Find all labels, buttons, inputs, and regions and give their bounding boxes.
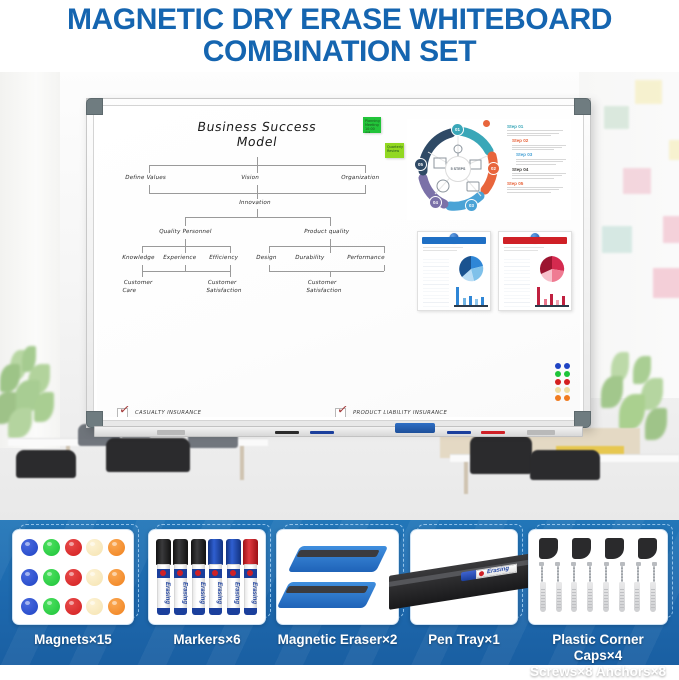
- marker-row: Erasing Erasing Erasing: [156, 539, 258, 615]
- magnet: [108, 569, 125, 586]
- step-label: Step 01: [507, 124, 569, 129]
- donut-hub-label: 5 STEPS: [445, 156, 471, 182]
- magnet: [86, 539, 103, 556]
- accessory-label: Magnets×15: [12, 632, 134, 648]
- accessory-label: Magnetic Eraser×2: [276, 632, 399, 648]
- magnet: [86, 569, 103, 586]
- magnet: [43, 569, 60, 586]
- magnet: [86, 598, 103, 615]
- whiteboard-surface[interactable]: Business Success Model Define Values Vis…: [97, 109, 580, 417]
- checkbox: ✓: [335, 408, 346, 418]
- corner-cap-icon: [86, 98, 103, 115]
- accessory-image-box: Erasing Erasing Erasing: [148, 529, 266, 625]
- product-title-block: MAGNETIC DRY ERASE WHITEBOARD COMBINATIO…: [0, 0, 679, 72]
- sheet-footer-bar: [535, 305, 569, 307]
- whiteboard[interactable]: Business Success Model Define Values Vis…: [86, 98, 591, 428]
- mindmap-node: Knowledge: [121, 255, 155, 261]
- check-icon: ✓: [118, 403, 133, 417]
- report-sheet-red[interactable]: [498, 231, 572, 311]
- board-magnet[interactable]: [555, 363, 561, 369]
- marker-brand: Erasing: [192, 581, 205, 605]
- accessory-erasers[interactable]: Magnetic Eraser×2: [276, 529, 399, 648]
- marker: Erasing: [191, 539, 206, 615]
- marker: Erasing: [173, 539, 188, 615]
- accessory-magnets[interactable]: Magnets×15: [12, 529, 134, 648]
- chair: [106, 438, 190, 472]
- board-magnet[interactable]: [564, 395, 570, 401]
- board-magnet[interactable]: [555, 371, 561, 377]
- mindmap-node: Vision: [240, 175, 259, 181]
- board-magnet[interactable]: [555, 395, 561, 401]
- magnetic-eraser: [283, 582, 371, 608]
- decorative-dot-icon: [483, 120, 490, 127]
- accessory-label: Pen Tray×1: [410, 632, 518, 648]
- sheet-header-band: [422, 237, 486, 244]
- magnet: [65, 598, 82, 615]
- sheet-grid: [423, 256, 449, 308]
- donut-chart: 5 STEPS 01 02 03 04 05: [413, 124, 503, 214]
- wall-anchor: [634, 582, 640, 612]
- mindmap-node: Durability: [294, 255, 324, 261]
- tray-eraser[interactable]: [395, 423, 435, 433]
- checklist-item[interactable]: ✓ PRODUCT LIABILITY INSURANCE: [335, 403, 535, 417]
- wall-anchor: [571, 582, 577, 612]
- sheet-grid: [504, 256, 530, 308]
- board-magnet-cluster[interactable]: [555, 363, 573, 405]
- wall-sticky-note: [669, 140, 679, 160]
- title-line-2: COMBINATION SET: [203, 36, 476, 68]
- corner-cap-icon: [574, 98, 591, 115]
- mindmap-node: Innovation: [238, 200, 271, 206]
- plastic-corner-cap: [638, 538, 657, 559]
- mindmap-node: Performance: [346, 255, 385, 261]
- board-magnet[interactable]: [564, 387, 570, 393]
- step-badge-04: 04: [429, 196, 442, 209]
- check-icon: ✓: [336, 403, 351, 417]
- magnet: [21, 569, 38, 586]
- wall-anchor: [556, 582, 562, 612]
- marker: Erasing: [243, 539, 258, 615]
- marker-brand: Erasing: [174, 581, 187, 605]
- accessory-image-box: [12, 529, 134, 625]
- accessory-markers[interactable]: Erasing Erasing Erasing: [148, 529, 266, 648]
- board-magnet[interactable]: [555, 379, 561, 385]
- magnet: [108, 598, 125, 615]
- sheet-bar-chart: [535, 287, 569, 307]
- accessory-image-box: Erasing: [410, 529, 518, 625]
- checklist-column-left: ✓ CASUALTY INSURANCE ✓ HEALTH INSURANCE …: [117, 403, 327, 417]
- report-sheet-blue[interactable]: [417, 231, 491, 311]
- desk-leg: [464, 462, 468, 494]
- magnetic-eraser: [294, 546, 382, 572]
- wall-anchor: [619, 582, 625, 612]
- plastic-corner-cap: [572, 538, 591, 559]
- checklist-label: CASUALTY INSURANCE: [135, 410, 201, 416]
- step-badge-01: 01: [451, 123, 464, 136]
- accessory-pen-tray[interactable]: Erasing Pen Tray×1: [410, 529, 518, 648]
- mindmap-node: Customer Satisfaction: [306, 279, 355, 295]
- mindmap-node: Quality Personnel: [158, 229, 212, 235]
- magnet: [43, 539, 60, 556]
- board-magnet[interactable]: [564, 371, 570, 377]
- chair: [470, 436, 532, 474]
- mindmap-node: Experience: [162, 255, 196, 261]
- office-scene: Business Success Model Define Values Vis…: [0, 68, 679, 520]
- board-magnet[interactable]: [555, 387, 561, 393]
- step-label: Step 03: [516, 152, 569, 157]
- wall-sticky-note: [663, 216, 679, 243]
- accessory-image-box: [528, 529, 668, 625]
- corner-cap-row: [539, 538, 657, 559]
- accessory-label-line-2: Screws×8 Anchors×8: [528, 664, 668, 680]
- marker: Erasing: [156, 539, 171, 615]
- magnet-grid: [21, 539, 125, 615]
- wall-sticky-note: [602, 226, 632, 253]
- checklist-item[interactable]: ✓ CASUALTY INSURANCE: [117, 403, 327, 417]
- step-badge-03: 03: [465, 199, 478, 212]
- marker-brand: Erasing: [227, 581, 240, 605]
- mindmap-node: Efficiency: [208, 255, 238, 261]
- wall-sticky-note: [623, 168, 651, 194]
- checklist-label: PRODUCT LIABILITY INSURANCE: [353, 410, 447, 416]
- chair: [16, 450, 76, 478]
- board-sticky-note[interactable]: Quarterly Review: [385, 143, 404, 158]
- marker-brand: Erasing: [157, 581, 170, 605]
- sheet-pie-chart: [456, 254, 486, 284]
- checklist-column-right: ✓ PRODUCT LIABILITY INSURANCE ✓ PROFESSI…: [335, 403, 535, 417]
- mindmap-node: Customer Satisfaction: [206, 279, 255, 295]
- sheet-header-band: [503, 237, 567, 244]
- magnet: [65, 569, 82, 586]
- magnet: [21, 539, 38, 556]
- magnet: [65, 539, 82, 556]
- circular-infographic: 5 STEPS 01 02 03 04 05 Step 01 Step 02 S…: [407, 119, 571, 220]
- wall-sticky-note: [653, 268, 679, 298]
- step-label: Step 04: [512, 167, 569, 172]
- plastic-corner-cap: [605, 538, 624, 559]
- step-badge-05: 05: [414, 158, 427, 171]
- sheet-text-lines: [504, 247, 544, 252]
- magnet: [21, 598, 38, 615]
- wall-anchor: [587, 582, 593, 612]
- checkbox: ✓: [117, 408, 128, 418]
- chair: [530, 450, 600, 480]
- marker-brand: Erasing: [244, 581, 257, 605]
- mindmap-title-line-2: Model: [118, 134, 396, 149]
- board-sticky-note[interactable]: Planning Meeting 10:00 AM: [363, 117, 381, 133]
- step-badge-02: 02: [487, 162, 500, 175]
- step-label: Step 02: [512, 138, 569, 143]
- wall-sticky-note: [604, 106, 629, 129]
- mindmap-node: Define Values: [124, 175, 166, 181]
- marker: Erasing: [208, 539, 223, 615]
- board-magnet[interactable]: [564, 379, 570, 385]
- desk-leg: [240, 446, 244, 480]
- accessories-bar: Magnets×15 Erasing Erasing: [0, 520, 679, 665]
- mindmap-node: Product quality: [303, 229, 349, 235]
- wall-anchor: [603, 582, 609, 612]
- magnet: [108, 539, 125, 556]
- whiteboard-pen-tray[interactable]: [94, 426, 583, 437]
- plastic-corner-cap: [539, 538, 558, 559]
- mindmap-node: Design: [255, 255, 277, 261]
- anchor-row: [539, 582, 657, 612]
- wall-anchor: [650, 582, 656, 612]
- step-label: Step 05: [507, 181, 569, 186]
- mindmap-node: Customer Care: [122, 279, 169, 295]
- accessory-label: Markers×6: [148, 632, 266, 648]
- sheet-bar-chart: [454, 287, 488, 307]
- sheet-text-lines: [423, 247, 463, 252]
- accessory-hardware[interactable]: Plastic Corner Caps×4 Screws×8 Anchors×8: [528, 529, 668, 680]
- wall-sticky-note: [635, 80, 662, 104]
- marker-brand: Erasing: [209, 581, 222, 605]
- infographic-step-list: Step 01 Step 02 Step 03 Step 04 Step 05: [507, 122, 569, 194]
- business-success-mindmap: Business Success Model Define Values Vis…: [119, 119, 395, 309]
- sheet-pie-chart: [537, 254, 567, 284]
- title-line-1: MAGNETIC DRY ERASE WHITEBOARD: [67, 4, 612, 36]
- marker: Erasing: [226, 539, 241, 615]
- wall-anchor: [540, 582, 546, 612]
- mindmap-title-line-1: Business Success: [118, 119, 396, 134]
- mindmap-node: Organization: [340, 175, 379, 181]
- sheet-footer-bar: [454, 305, 488, 307]
- accessory-label-line-1: Plastic Corner Caps×4: [528, 632, 668, 664]
- accessory-image-box: [276, 529, 399, 625]
- magnet: [43, 598, 60, 615]
- board-magnet[interactable]: [564, 363, 570, 369]
